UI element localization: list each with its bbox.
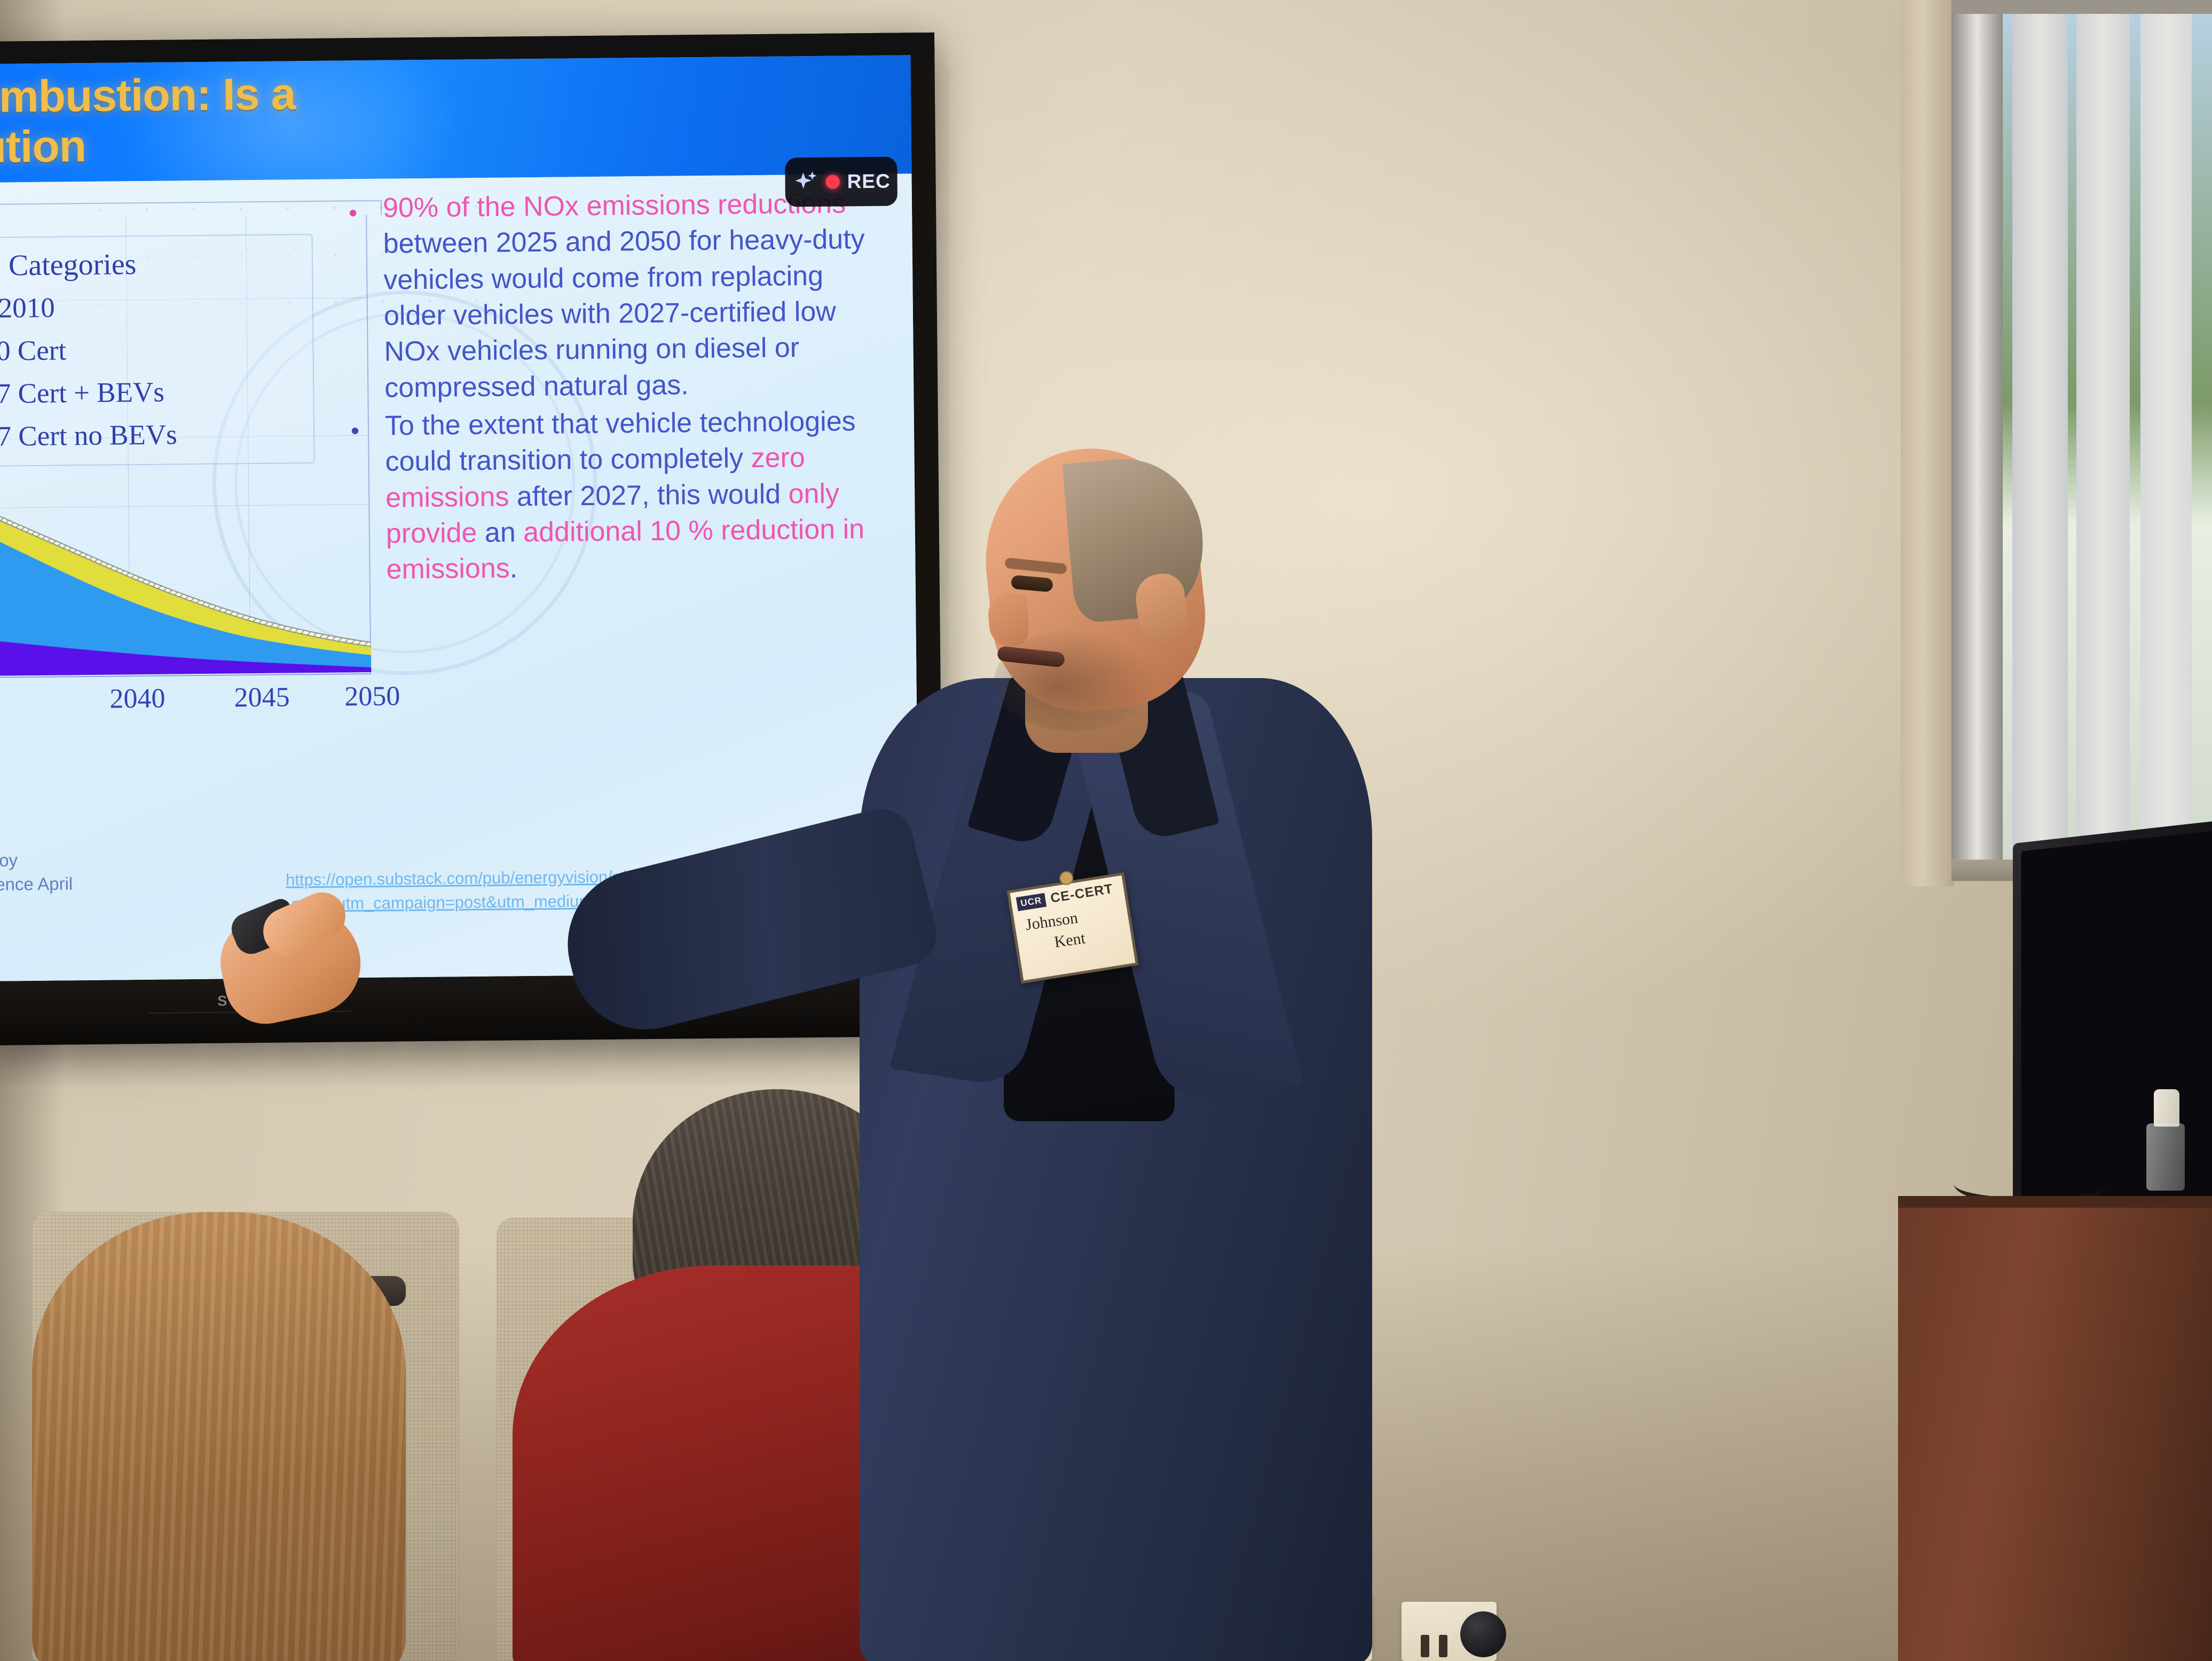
record-dot-icon <box>825 175 839 189</box>
wooden-podium <box>1898 1196 2212 1661</box>
rec-label: REC <box>847 170 891 193</box>
attendee-hair <box>32 1212 406 1661</box>
chart-area-series <box>0 459 371 676</box>
legend-title: Vehicle Categories <box>0 246 312 284</box>
xtick-2040: 2040 <box>109 683 166 715</box>
bullet-1-rest: between 2025 and 2050 for heavy-duty veh… <box>383 224 865 403</box>
legend-label-2010-cert: 2010 Cert <box>0 334 66 367</box>
chart-x-axis-ticks: 2040 2045 2050 <box>0 681 387 722</box>
bullet-2-seg4: an <box>477 517 523 548</box>
presenter-nose <box>987 593 1030 649</box>
sanitizer-pump-icon <box>2154 1089 2179 1127</box>
xtick-2050: 2050 <box>344 680 400 712</box>
legend-item-2027-cert-bevs: 2027 Cert + BEVs <box>0 369 313 416</box>
list-item <box>32 1212 406 1661</box>
window-gap <box>2130 0 2140 876</box>
legend-item-2027-cert-no-bevs: 2027 Cert no BEVs <box>0 412 313 459</box>
bullet-marker: • <box>349 191 385 407</box>
blind-headrail <box>1951 0 2212 14</box>
list-item: • 90% of the NOx emissions reductions be… <box>349 186 890 407</box>
chart-legend: Vehicle Categories Pre 2010 2010 Cert 20… <box>0 234 315 467</box>
slide-title-line2: ive Solution <box>0 113 906 173</box>
window-gap <box>2201 0 2212 876</box>
recording-indicator-badge: REC <box>785 156 898 207</box>
bullet-1-highlight: 90% of the NOx emissions reductions <box>383 188 846 223</box>
wall-pillar <box>1901 0 1954 886</box>
vertical-blinds[interactable] <box>1951 0 2212 876</box>
blind-slat <box>2140 0 2192 876</box>
window-with-blinds <box>1951 0 2212 876</box>
citation-line1: nson, and Troy <box>0 846 328 873</box>
bullet-marker: • <box>351 408 387 588</box>
badge-org-name: CE-CERT <box>1050 881 1114 906</box>
sanitizer-bottle-body <box>2146 1123 2185 1191</box>
bullet-2-seg2: after 2027, this would <box>509 478 789 512</box>
bullet-2-seg6: . <box>509 553 517 584</box>
legend-label-pre-2010: Pre 2010 <box>0 292 55 325</box>
xtick-2045: 2045 <box>234 681 290 713</box>
bullet-text-1: 90% of the NOx emissions reductions betw… <box>383 186 890 406</box>
legend-item-2010-cert: 2010 Cert <box>0 327 313 374</box>
podium-top-edge <box>1898 1196 2212 1208</box>
window-gap <box>2068 0 2076 876</box>
legend-label-2027-cert-no-bevs: 2027 Cert no BEVs <box>0 419 177 453</box>
ucr-logo: UCR <box>1016 893 1046 911</box>
stacked-area-chart: Vehicle Categories Pre 2010 2010 Cert 20… <box>0 184 388 824</box>
blind-slat <box>2012 0 2068 876</box>
window-gap <box>2003 0 2012 876</box>
hand-sanitizer-bottle[interactable] <box>2146 1089 2185 1191</box>
legend-item-pre-2010: Pre 2010 <box>0 284 312 331</box>
name-badge: UCR CE-CERT Johnson Kent <box>1007 872 1139 984</box>
slide-citation: nson, and Troy SAR Conference April <box>0 846 328 898</box>
slide-title: NOx Combustion: Is a ive Solution <box>0 62 906 173</box>
citation-line2: SAR Conference April <box>0 869 328 897</box>
blind-slat <box>1951 0 2003 876</box>
presenter: UCR CE-CERT Johnson Kent <box>796 470 1490 1661</box>
legend-label-2027-cert-bevs: 2027 Cert + BEVs <box>0 376 164 411</box>
conference-room-scene: NOx Combustion: Is a ive Solution <box>0 0 2212 1661</box>
blind-slat <box>2076 0 2130 876</box>
sparkle-icon <box>794 170 818 194</box>
window-gap <box>2192 0 2201 876</box>
